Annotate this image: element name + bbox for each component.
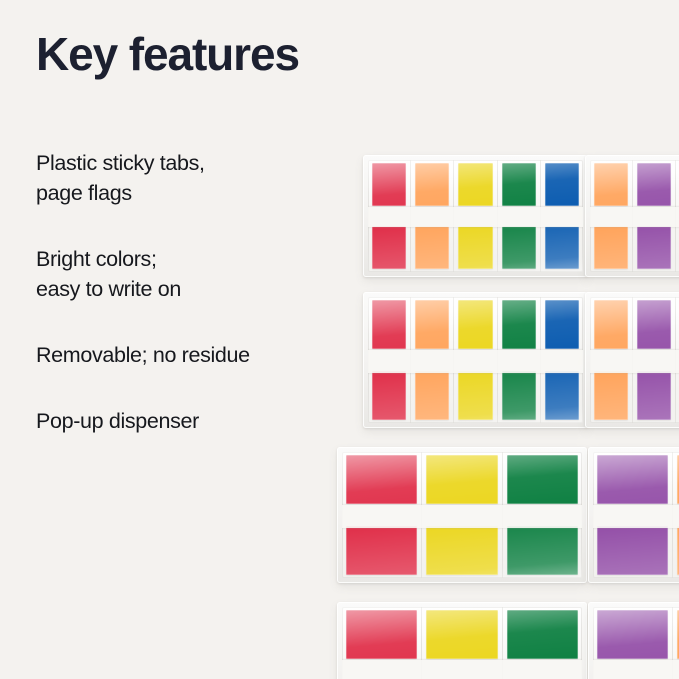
sticky-flag: [346, 610, 417, 659]
dispenser-window: [593, 607, 679, 679]
sticky-flag: [372, 163, 406, 206]
flag-column: [410, 160, 453, 272]
flag-column: [421, 452, 501, 578]
sticky-flag: [545, 226, 579, 269]
flag-column: [342, 607, 421, 679]
sticky-flag: [637, 371, 671, 420]
flag-column: [497, 160, 540, 272]
dispenser-window: [590, 297, 679, 423]
sticky-flag: [594, 226, 628, 269]
sticky-flag: [594, 371, 628, 420]
flag-grid: [590, 160, 679, 272]
flag-column: [672, 607, 679, 679]
sticky-flag: [597, 526, 668, 575]
sticky-flag: [545, 163, 579, 206]
list-item: Plastic sticky tabs, page flags: [36, 148, 346, 208]
dispenser-window: [368, 297, 583, 423]
dispenser-window: [593, 452, 679, 578]
sticky-flag: [637, 300, 671, 349]
flag-column: [453, 297, 496, 423]
flag-column: [502, 452, 582, 578]
flag-column: [632, 297, 675, 423]
sticky-flag: [594, 300, 628, 349]
flag-column: [410, 297, 453, 423]
sticky-flag: [502, 226, 536, 269]
sticky-flag: [637, 163, 671, 206]
flag-column: [497, 297, 540, 423]
sticky-flag: [597, 455, 668, 504]
flag-grid: [342, 452, 582, 578]
dispenser-narrow-bright-1: [585, 155, 679, 277]
sticky-flag: [458, 163, 492, 206]
flag-grid: [368, 160, 583, 272]
flag-grid: [593, 607, 679, 679]
sticky-flag: [502, 300, 536, 349]
sticky-flag: [458, 371, 492, 420]
dispenser-window: [342, 452, 582, 578]
sticky-flag: [415, 300, 449, 349]
flag-column: [368, 160, 410, 272]
sticky-flag: [458, 226, 492, 269]
flag-column: [672, 452, 679, 578]
sticky-flag: [502, 163, 536, 206]
dispenser-narrow-rainbow-2: [363, 292, 588, 428]
flag-column: [368, 297, 410, 423]
flag-grid: [593, 452, 679, 578]
sticky-flag: [415, 371, 449, 420]
sticky-flag: [507, 610, 578, 659]
flag-grid: [368, 297, 583, 423]
dispenser-narrow-rainbow-1: [363, 155, 588, 277]
sticky-flag: [372, 226, 406, 269]
flag-column: [540, 160, 583, 272]
sticky-flag: [415, 163, 449, 206]
sticky-flag: [372, 371, 406, 420]
list-item: Pop-up dispenser: [36, 406, 346, 436]
sticky-flag: [426, 610, 497, 659]
sticky-flag: [507, 455, 578, 504]
flag-column: [502, 607, 582, 679]
sticky-flag: [502, 371, 536, 420]
dispenser-wide-bright-1: [588, 447, 679, 583]
flag-column: [590, 297, 632, 423]
copy-column: Key features Plastic sticky tabs, page f…: [36, 0, 346, 679]
sticky-flag: [594, 163, 628, 206]
flag-column: [421, 607, 501, 679]
sticky-flag: [597, 610, 668, 659]
sticky-flag: [637, 226, 671, 269]
flag-grid: [342, 607, 582, 679]
flag-column: [593, 607, 672, 679]
sticky-flag: [346, 455, 417, 504]
sticky-flag: [415, 226, 449, 269]
flag-column: [540, 297, 583, 423]
dispenser-wide-rainbow-1: [337, 447, 587, 583]
sticky-flag: [346, 526, 417, 575]
flag-grid: [590, 297, 679, 423]
list-item: Bright colors; easy to write on: [36, 244, 346, 304]
dispenser-narrow-bright-2: [585, 292, 679, 428]
sticky-flag: [426, 455, 497, 504]
dispenser-wide-bright-2: [588, 602, 679, 679]
flag-column: [453, 160, 496, 272]
flag-column: [675, 160, 679, 272]
product-feature-card: Key features Plastic sticky tabs, page f…: [0, 0, 679, 679]
flag-column: [342, 452, 421, 578]
dispenser-window: [590, 160, 679, 272]
dispenser-window: [342, 607, 582, 679]
sticky-flag: [426, 526, 497, 575]
flag-column: [632, 160, 675, 272]
page-title: Key features: [36, 26, 299, 82]
flag-column: [593, 452, 672, 578]
dispenser-window: [368, 160, 583, 272]
feature-list: Plastic sticky tabs, page flags Bright c…: [36, 148, 346, 472]
dispenser-wide-rainbow-2: [337, 602, 587, 679]
flag-column: [675, 297, 679, 423]
sticky-flag: [545, 371, 579, 420]
list-item: Removable; no residue: [36, 340, 346, 370]
sticky-flag: [545, 300, 579, 349]
sticky-flag: [458, 300, 492, 349]
product-photo-sticky-flag-dispensers: [320, 0, 679, 679]
sticky-flag: [507, 526, 578, 575]
sticky-flag: [372, 300, 406, 349]
flag-column: [590, 160, 632, 272]
